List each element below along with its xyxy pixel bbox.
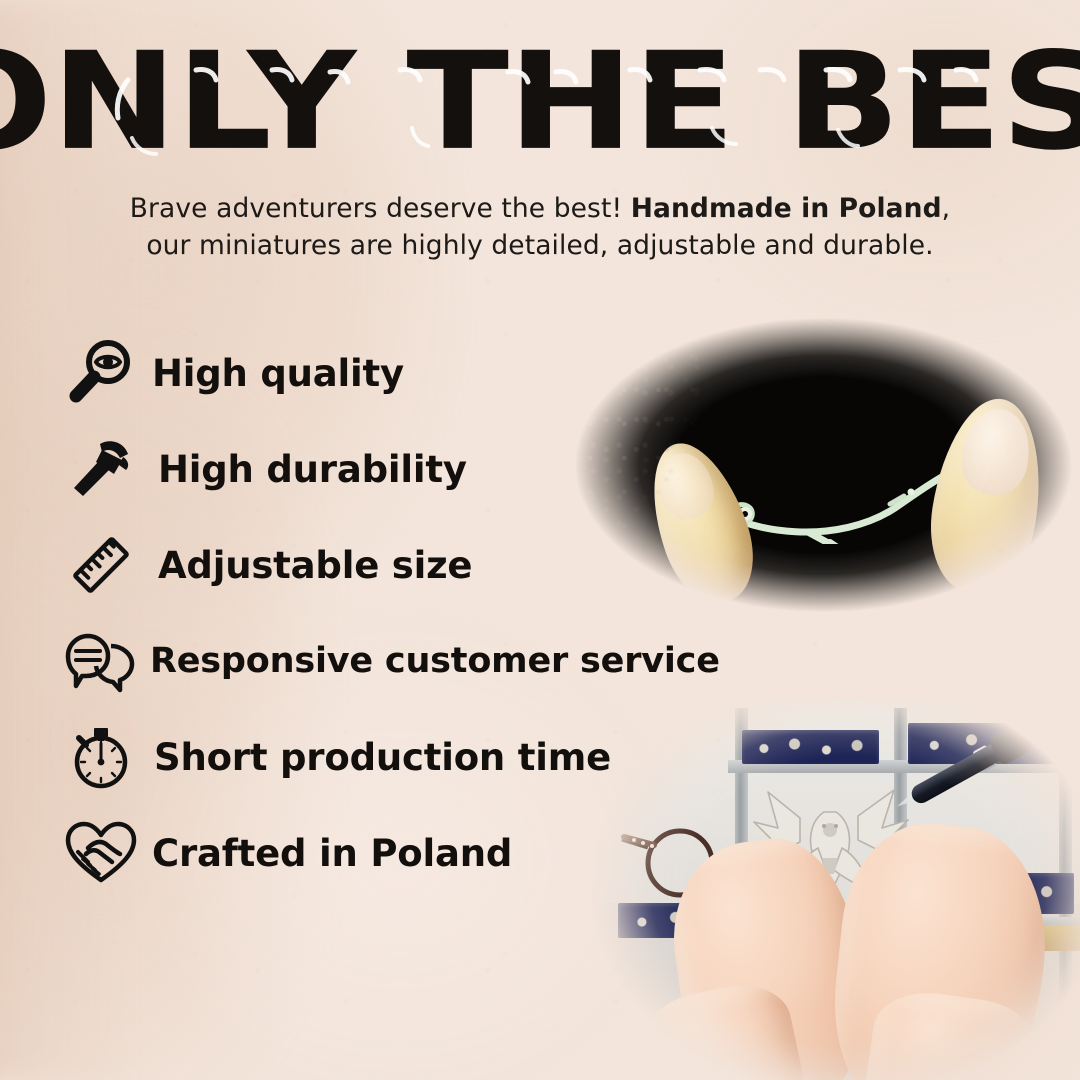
subtitle-line2: our miniatures are highly detailed, adju…	[146, 230, 933, 261]
subtitle-line1-bold: Handmade in Poland	[631, 193, 942, 224]
feature-label: Adjustable size	[158, 544, 472, 587]
feature-item-high-quality: High quality	[62, 325, 842, 421]
feature-label: High durability	[158, 448, 467, 491]
feature-item-responsive-customer-service: Responsive customer service	[62, 613, 842, 709]
handshake-heart-icon	[62, 814, 140, 892]
subtitle: Brave adventurers deserve the best! Hand…	[0, 190, 1080, 264]
feature-list: High quality High durability	[62, 325, 842, 901]
poster-canvas: ONLY THE BEST Brave adventurers deserve …	[0, 0, 1080, 1080]
feature-item-high-durability: High durability	[62, 421, 842, 517]
subtitle-line1-prefix: Brave adventurers deserve the best!	[130, 193, 631, 224]
feature-label: Short production time	[154, 736, 611, 779]
feature-item-crafted-in-poland: Crafted in Poland	[62, 805, 842, 901]
ruler-icon	[62, 526, 140, 604]
page-title: ONLY THE BEST	[0, 35, 1080, 170]
stopwatch-icon	[62, 718, 140, 796]
feature-item-adjustable-size: Adjustable size	[62, 517, 842, 613]
hammer-icon	[62, 430, 140, 508]
feature-label: Crafted in Poland	[152, 832, 512, 875]
speech-bubbles-icon	[62, 622, 140, 700]
subtitle-line1-suffix: ,	[942, 193, 951, 224]
feature-label: Responsive customer service	[150, 641, 720, 681]
feature-label: High quality	[152, 352, 404, 395]
magnifier-eye-icon	[62, 334, 140, 412]
feature-item-short-production-time: Short production time	[62, 709, 842, 805]
